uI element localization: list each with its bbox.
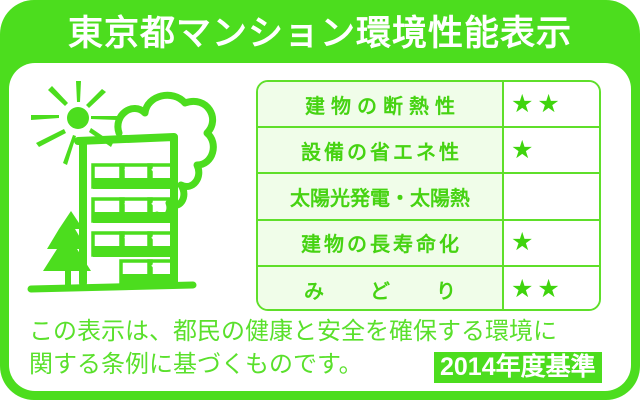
rating-label-longevity: 建物の長寿命化 [258, 221, 504, 265]
table-row: みどり ★ ★ [258, 267, 599, 311]
rating-stars-greenery: ★ ★ [504, 267, 599, 311]
rating-stars-solar [504, 174, 599, 218]
sun-icon [31, 81, 117, 165]
rating-label-insulation: 建物の断熱性 [258, 82, 504, 126]
rating-label-energy-saving: 設備の省エネ性 [258, 128, 504, 172]
star-icon: ★ [511, 230, 533, 255]
footer-line-1: この表示は、都民の健康と安全を確保する環境に [29, 315, 615, 348]
table-row: 太陽光発電・太陽熱 [258, 174, 599, 220]
rating-label-greenery: みどり [258, 267, 504, 311]
building-windows [93, 165, 175, 285]
star-icon: ★ [537, 277, 559, 302]
environmental-performance-label: 東京都マンション環境性能表示 [0, 0, 640, 400]
status-badge: 2014年度基準 [434, 352, 602, 383]
star-icon: ★ [537, 92, 559, 117]
rating-stars-insulation: ★ ★ [504, 82, 599, 126]
star-icon: ★ [511, 92, 533, 117]
ratings-table: 建物の断熱性 ★ ★ 設備の省エネ性 ★ 太陽光発電・太陽熱 建物の長寿命化 [256, 80, 601, 311]
eco-building-illustration [21, 77, 253, 307]
rating-stars-longevity: ★ [504, 221, 599, 265]
table-row: 建物の長寿命化 ★ [258, 221, 599, 267]
table-row: 設備の省エネ性 ★ [258, 128, 599, 174]
apartment-building-icon [78, 137, 175, 285]
rating-label-solar: 太陽光発電・太陽熱 [258, 174, 504, 218]
star-icon: ★ [511, 277, 533, 302]
label-body-card: 建物の断熱性 ★ ★ 設備の省エネ性 ★ 太陽光発電・太陽熱 建物の長寿命化 [9, 63, 631, 391]
rating-stars-energy-saving: ★ [504, 128, 599, 172]
table-row: 建物の断熱性 ★ ★ [258, 82, 599, 128]
ground-line [31, 285, 193, 289]
illustration-svg [21, 77, 253, 307]
page-title: 東京都マンション環境性能表示 [0, 8, 640, 60]
star-icon: ★ [511, 138, 533, 163]
